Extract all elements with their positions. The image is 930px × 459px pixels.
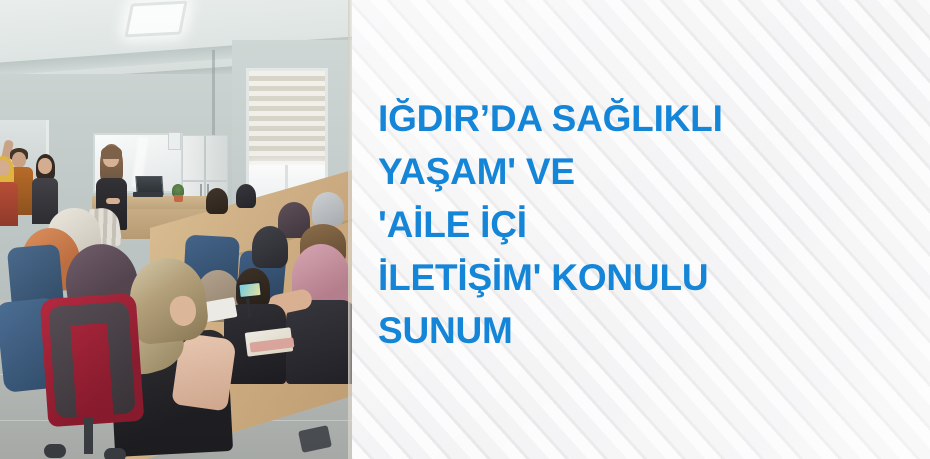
cabinet-handle-left <box>200 184 202 196</box>
ceiling-light-icon <box>124 1 187 38</box>
presenter-hair-front <box>101 146 122 159</box>
wall-poster <box>168 132 181 150</box>
news-card: IĞDIR’DA SAĞLIKLI YAŞAM' VE 'AİLE İÇİ İL… <box>0 0 930 459</box>
article-photo <box>0 0 352 459</box>
presenter-hands <box>106 198 120 204</box>
headline-panel: IĞDIR’DA SAĞLIKLI YAŞAM' VE 'AİLE İÇİ İL… <box>352 0 930 459</box>
laptop-base <box>133 192 163 197</box>
plant-pot <box>174 195 183 202</box>
attendee-body <box>286 300 352 384</box>
cabinet-shelf-line <box>183 180 227 182</box>
office-chair-stem <box>84 418 93 454</box>
standing-man-head <box>12 152 26 168</box>
standing-woman-head <box>38 158 52 174</box>
standing-woman2-body <box>0 182 18 226</box>
office-chair-wheel <box>44 444 66 458</box>
attendee-headscarf <box>252 226 288 268</box>
office-chair-wheel <box>104 448 126 459</box>
attendee-headscarf <box>312 192 344 226</box>
phone-screen <box>239 283 260 297</box>
attendee-head <box>206 188 228 214</box>
attendee-head <box>236 184 256 208</box>
headline-text: IĞDIR’DA SAĞLIKLI YAŞAM' VE 'AİLE İÇİ İL… <box>378 92 916 357</box>
